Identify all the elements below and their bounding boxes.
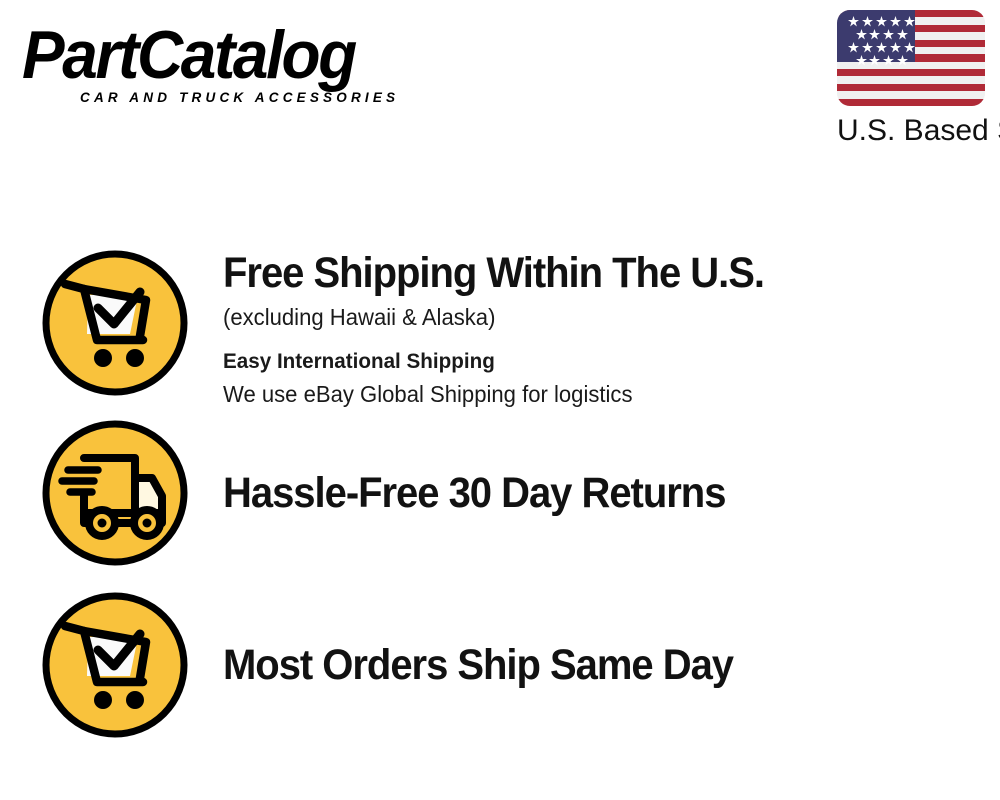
feature-headline: Most Orders Ship Same Day <box>223 642 733 688</box>
feature-item-returns: Hassle-Free 30 Day Returns <box>40 418 763 568</box>
feature-sub-note: We use eBay Global Shipping for logistic… <box>223 379 781 410</box>
delivery-truck-icon <box>40 418 190 568</box>
feature-item-same-day-ship: Most Orders Ship Same Day <box>40 590 771 740</box>
us-based-seller-label: U.S. Based Seller <box>837 114 995 148</box>
feature-text-block: Hassle-Free 30 Day Returns <box>190 418 763 568</box>
us-based-seller-badge: U.S. Based Seller <box>837 10 985 148</box>
brand-wordmark: PartCatalog <box>22 22 464 89</box>
promotional-banner: PartCatalog CAR AND TRUCK ACCESSORIES <box>0 0 1000 800</box>
us-flag-icon <box>837 10 985 106</box>
flag-canton <box>837 10 915 62</box>
feature-sub-headline: Easy International Shipping <box>223 347 781 376</box>
feature-text-block: Most Orders Ship Same Day <box>190 590 771 740</box>
feature-item-free-shipping: Free Shipping Within The U.S. (excluding… <box>40 248 805 410</box>
feature-note: (excluding Hawaii & Alaska) <box>223 302 781 333</box>
brand-logo: PartCatalog CAR AND TRUCK ACCESSORIES <box>22 22 492 105</box>
shopping-cart-check-icon <box>40 590 190 740</box>
feature-headline: Free Shipping Within The U.S. <box>223 250 764 296</box>
feature-headline: Hassle-Free 30 Day Returns <box>223 470 725 516</box>
shopping-cart-check-icon <box>40 248 190 398</box>
feature-text-block: Free Shipping Within The U.S. (excluding… <box>190 248 805 410</box>
